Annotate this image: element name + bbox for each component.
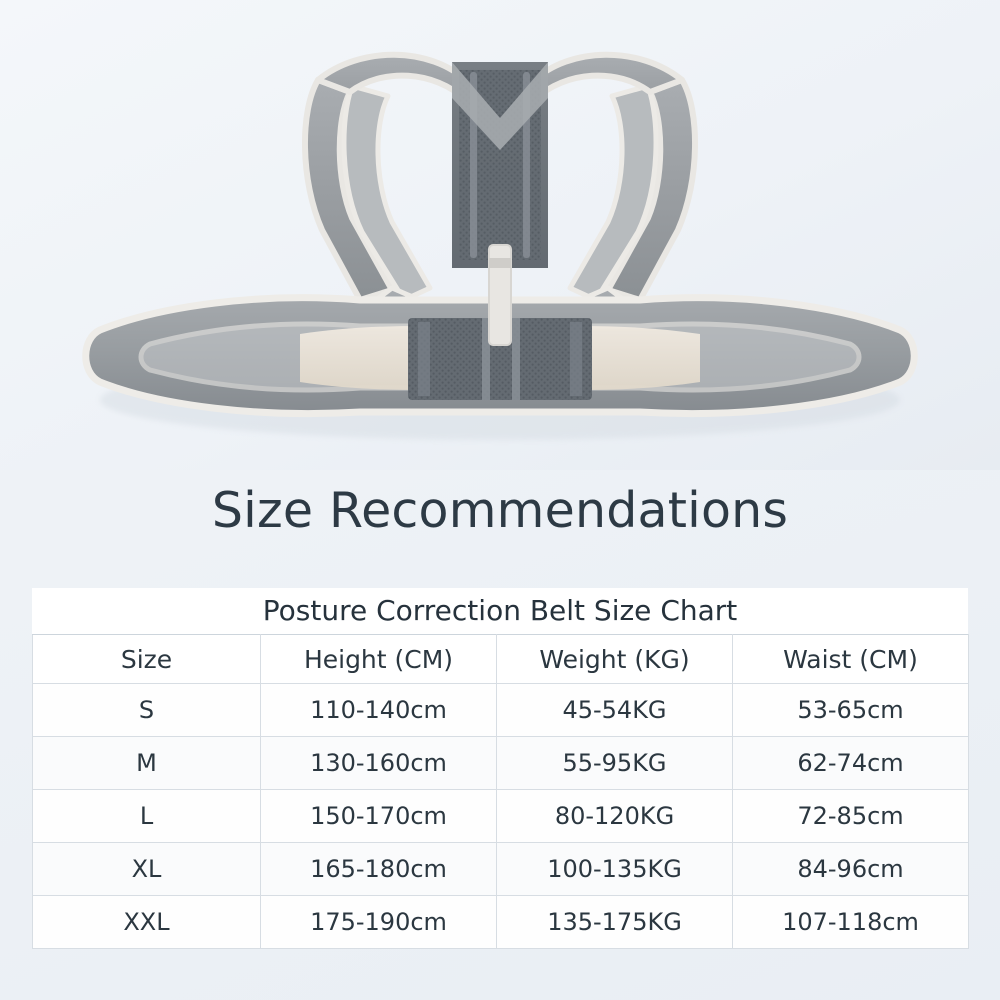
cell-size: L [33, 790, 261, 843]
size-chart-title: Posture Correction Belt Size Chart [32, 588, 968, 634]
cell-size: XL [33, 843, 261, 896]
center-connector [489, 245, 511, 345]
cell-size: S [33, 684, 261, 737]
table-header-row: Size Height (CM) Weight (KG) Waist (CM) [33, 635, 969, 684]
table-row: XXL 175-190cm 135-175KG 107-118cm [33, 896, 969, 949]
cell-weight: 55-95KG [497, 737, 733, 790]
table-row: L 150-170cm 80-120KG 72-85cm [33, 790, 969, 843]
table-row: XL 165-180cm 100-135KG 84-96cm [33, 843, 969, 896]
cell-height: 130-160cm [261, 737, 497, 790]
cell-waist: 53-65cm [733, 684, 969, 737]
column-header-height: Height (CM) [261, 635, 497, 684]
size-chart-container: Posture Correction Belt Size Chart Size … [32, 588, 968, 949]
column-header-size: Size [33, 635, 261, 684]
cell-height: 175-190cm [261, 896, 497, 949]
cell-height: 165-180cm [261, 843, 497, 896]
table-row: S 110-140cm 45-54KG 53-65cm [33, 684, 969, 737]
page-title: Size Recommendations [0, 482, 1000, 539]
size-chart-table: Size Height (CM) Weight (KG) Waist (CM) … [32, 634, 969, 949]
cell-waist: 107-118cm [733, 896, 969, 949]
product-image [0, 0, 1000, 470]
cell-weight: 100-135KG [497, 843, 733, 896]
page-root: Size Recommendations Posture Correction … [0, 0, 1000, 1000]
cell-waist: 72-85cm [733, 790, 969, 843]
posture-belt-illustration [0, 0, 1000, 470]
cell-size: XXL [33, 896, 261, 949]
cell-weight: 45-54KG [497, 684, 733, 737]
cell-height: 150-170cm [261, 790, 497, 843]
cell-weight: 135-175KG [497, 896, 733, 949]
column-header-weight: Weight (KG) [497, 635, 733, 684]
table-row: M 130-160cm 55-95KG 62-74cm [33, 737, 969, 790]
back-panel [452, 62, 548, 268]
cell-weight: 80-120KG [497, 790, 733, 843]
column-header-waist: Waist (CM) [733, 635, 969, 684]
cell-height: 110-140cm [261, 684, 497, 737]
cell-size: M [33, 737, 261, 790]
cell-waist: 62-74cm [733, 737, 969, 790]
cell-waist: 84-96cm [733, 843, 969, 896]
